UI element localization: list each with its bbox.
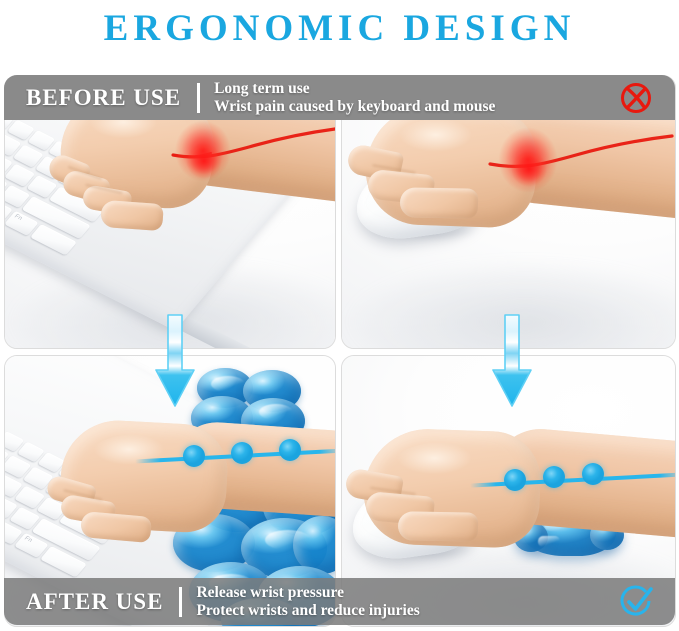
after-use-line-2: Protect wrists and reduce injuries bbox=[196, 602, 419, 619]
down-arrow-icon-left bbox=[155, 314, 195, 410]
banner-divider bbox=[197, 83, 200, 113]
gel-gloss bbox=[538, 536, 560, 547]
banner-after-use: AFTER USE Release wrist pressure Protect… bbox=[4, 578, 675, 625]
gel-gloss bbox=[259, 404, 293, 420]
key-label: Fn bbox=[23, 536, 34, 544]
before-use-text: Long term use Wrist pain caused by keybo… bbox=[214, 80, 495, 115]
circle-check-icon bbox=[619, 585, 653, 619]
after-use-text: Release wrist pressure Protect wrists an… bbox=[196, 584, 419, 619]
before-use-line-2: Wrist pain caused by keyboard and mouse bbox=[214, 98, 495, 115]
pain-glow-core bbox=[181, 138, 227, 184]
after-use-line-1: Release wrist pressure bbox=[196, 584, 419, 601]
down-arrow-icon-right bbox=[492, 314, 532, 410]
pain-glow-core bbox=[506, 146, 552, 192]
circle-x-icon bbox=[619, 81, 653, 115]
knuckle-highlight bbox=[89, 434, 189, 478]
gel-gloss bbox=[265, 530, 311, 550]
before-use-label: BEFORE USE bbox=[26, 85, 181, 111]
banner-divider bbox=[179, 587, 182, 617]
page-title: ERGONOMIC DESIGN bbox=[0, 0, 679, 56]
relief-dot bbox=[279, 439, 301, 461]
gel-gloss bbox=[211, 376, 245, 392]
relief-dot bbox=[582, 463, 604, 485]
banner-before-use: BEFORE USE Long term use Wrist pain caus… bbox=[4, 75, 675, 120]
panel-grid: Shift Ctrl Alt bbox=[4, 75, 675, 625]
knuckle-highlight bbox=[392, 442, 498, 488]
relief-dot bbox=[231, 442, 253, 464]
product-feature-image: ERGONOMIC DESIGN bbox=[0, 0, 679, 631]
relief-dot bbox=[543, 466, 565, 488]
after-use-label: AFTER USE bbox=[26, 589, 163, 615]
thumb bbox=[398, 511, 478, 541]
before-use-line-1: Long term use bbox=[214, 80, 495, 97]
relief-dot bbox=[183, 445, 205, 467]
relief-dot bbox=[504, 469, 526, 491]
